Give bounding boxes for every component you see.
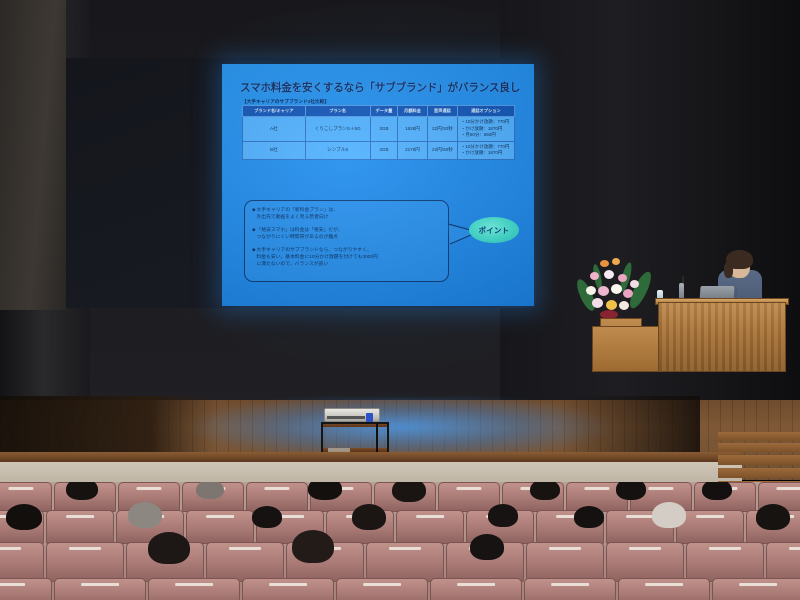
diamond-bullet-icon: ◆ bbox=[252, 227, 256, 232]
bullet-line: 大手キャリアのサブブランドなら、つながりやすく、 bbox=[257, 248, 372, 253]
bullet-line: 料金も安い。基本料金に10分かけ放題を付けても3000円 bbox=[252, 254, 441, 261]
th-voice: 音声通話 bbox=[427, 106, 457, 117]
audience-head bbox=[252, 506, 282, 528]
audience-head bbox=[128, 502, 162, 528]
audience-head bbox=[470, 534, 504, 560]
bullet-line: 外出先で動画をよく見る若者向け bbox=[252, 214, 441, 221]
audience-head bbox=[6, 504, 42, 530]
presentation-slide: スマホ料金を安くするなら「サブブランド」がバランス良し 【大手キャリアのサブブラ… bbox=[222, 64, 534, 306]
audience-head bbox=[530, 482, 560, 500]
projector-vent bbox=[327, 416, 365, 419]
bullet-line: 大手キャリアの「新料金プラン」は、 bbox=[257, 208, 339, 213]
option-item: ・かけ放題：1870円 bbox=[461, 150, 513, 157]
option-item: ・月60分：550円 bbox=[461, 132, 513, 139]
bullet-list: ◆大手キャリアの「新料金プラン」は、 外出先で動画をよく見る若者向け ◆「格安ス… bbox=[245, 201, 448, 268]
cell-brand: A社 bbox=[243, 117, 306, 142]
slide-page-number: 19 bbox=[522, 297, 527, 302]
audience-head bbox=[66, 482, 98, 500]
cell-price: 2178円 bbox=[398, 141, 428, 159]
th-data: データ量 bbox=[370, 106, 397, 117]
audience-head bbox=[756, 504, 790, 530]
point-badge: ポイント bbox=[469, 217, 519, 243]
floral-arrangement bbox=[578, 256, 654, 322]
th-options: 通話オプション bbox=[457, 106, 514, 117]
table-row: B社 シンプルS 3GB 2178円 22円/30秒 ・10分かけ放題：770円… bbox=[243, 141, 515, 159]
cell-voice: 22円/30秒 bbox=[427, 117, 457, 142]
presenter-hair-side bbox=[724, 262, 733, 278]
audience-head bbox=[652, 502, 686, 528]
slide-title: スマホ料金を安くするなら「サブブランド」がバランス良し bbox=[240, 80, 526, 95]
bullet-line: 「格安スマホ」は料金は「格安」だが、 bbox=[257, 228, 343, 233]
th-plan: プラン名 bbox=[305, 106, 370, 117]
th-price: 月額料金 bbox=[398, 106, 428, 117]
cell-plan: くりこしプランS＋5G bbox=[305, 117, 370, 142]
bullet-item: ◆大手キャリアのサブブランドなら、つながりやすく、 料金も安い。基本料金に10分… bbox=[252, 247, 441, 269]
point-badge-label: ポイント bbox=[479, 225, 510, 236]
cell-plan: シンプルS bbox=[305, 141, 370, 159]
audience-head bbox=[308, 482, 342, 500]
audience-head bbox=[702, 482, 732, 500]
audience-head bbox=[488, 504, 518, 527]
audience-head bbox=[292, 530, 334, 563]
audience-seating bbox=[0, 482, 800, 600]
diamond-bullet-icon: ◆ bbox=[252, 207, 256, 212]
option-item: ・10分かけ放題：770円 bbox=[461, 119, 513, 126]
stage-shadow-right bbox=[560, 396, 700, 452]
audience-head bbox=[616, 482, 646, 500]
cell-data: 3GB bbox=[370, 141, 397, 159]
cell-options: ・10分かけ放題：770円 ・かけ放題：1870円 bbox=[457, 141, 514, 159]
th-brand: ブランド名/キャリア bbox=[243, 106, 306, 117]
podium-side-table bbox=[592, 326, 662, 372]
comparison-table: ブランド名/キャリア プラン名 データ量 月額料金 音声通話 通話オプション A… bbox=[242, 105, 515, 160]
audience-head bbox=[196, 482, 224, 499]
audience-head bbox=[352, 504, 386, 530]
side-wall-panel bbox=[0, 0, 66, 310]
audience-head bbox=[148, 532, 190, 564]
projector-indicator bbox=[366, 413, 373, 422]
bullet-item: ◆「格安スマホ」は料金は「格安」だが、 つながりにくい時間帯があるのが難点 bbox=[252, 227, 441, 241]
cell-options: ・10分かけ放題：770円 ・かけ放題：1870円 ・月60分：550円 bbox=[457, 117, 514, 142]
stage-light-pool bbox=[190, 398, 610, 456]
cell-price: 1628円 bbox=[398, 117, 428, 142]
bullet-line: つながりにくい時間帯があるのが難点 bbox=[252, 234, 441, 241]
bullet-line: に満たないので、バランスが良い bbox=[252, 261, 441, 268]
auditorium-photo: スマホ料金を安くするなら「サブブランド」がバランス良し 【大手キャリアのサブブラ… bbox=[0, 0, 800, 600]
stage-shadow-left bbox=[0, 396, 215, 458]
audience-head bbox=[392, 482, 426, 502]
table-header-row: ブランド名/キャリア プラン名 データ量 月額料金 音声通話 通話オプション bbox=[243, 106, 515, 117]
cell-data: 3GB bbox=[370, 117, 397, 142]
audience-head bbox=[574, 506, 604, 528]
callout-bubble: ◆大手キャリアの「新料金プラン」は、 外出先で動画をよく見る若者向け ◆「格安ス… bbox=[244, 200, 449, 282]
cell-voice: 22円/30秒 bbox=[427, 141, 457, 159]
podium-lectern bbox=[658, 302, 786, 372]
bullet-item: ◆大手キャリアの「新料金プラン」は、 外出先で動画をよく見る若者向け bbox=[252, 207, 441, 221]
cell-brand: B社 bbox=[243, 141, 306, 159]
table-row: A社 くりこしプランS＋5G 3GB 1628円 22円/30秒 ・10分かけ放… bbox=[243, 117, 515, 142]
diamond-bullet-icon: ◆ bbox=[252, 247, 256, 252]
